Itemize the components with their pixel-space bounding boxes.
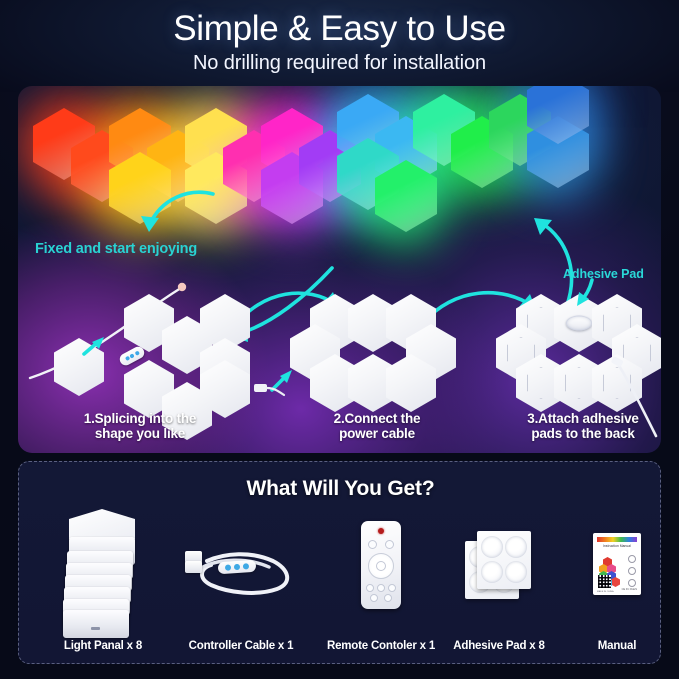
step-2-hex-group	[290, 294, 450, 414]
whats-included-title: What Will You Get?	[19, 477, 662, 501]
page-subtitle: No drilling required for installation	[0, 52, 679, 75]
whats-included-panel: What Will You Get? Light Panal x 8	[18, 461, 661, 664]
manual-qr-code	[598, 575, 611, 588]
manual-footer-text: MADE IN CHINA	[597, 591, 614, 593]
step-1-caption: 1.Splicing into the shape you like	[40, 411, 240, 441]
light-panel-stack-art	[33, 507, 173, 625]
included-item-light-panel: Light Panal x 8	[33, 507, 173, 652]
included-item-manual: Instruction Manual CE FC RoHS MADE IN CH…	[547, 507, 679, 652]
manual-cover-title: Instruction Manual	[593, 544, 641, 548]
step-3-caption: 3.Attach adhesive pads to the back	[483, 411, 661, 441]
arrow-to-lights-icon	[123, 186, 243, 256]
main-illustration-panel: Fixed and start enjoying	[18, 86, 661, 453]
manual-cert-marks: CE FC RoHS	[622, 588, 637, 591]
power-plug-icon	[250, 374, 290, 404]
included-item-controller-cable: Controller Cable x 1	[171, 507, 311, 652]
controller-cable-label: Controller Cable x 1	[171, 640, 311, 652]
infographic-root: Simple & Easy to Use No drilling require…	[0, 0, 679, 679]
adhesive-pad-arrow-icon	[570, 278, 606, 310]
light-panel-label: Light Panal x 8	[33, 640, 173, 652]
step-2-caption: 2.Connect the power cable	[277, 411, 477, 441]
manual-art: Instruction Manual CE FC RoHS MADE IN CH…	[547, 507, 679, 625]
controller-cable-art	[171, 507, 311, 625]
manual-label: Manual	[547, 640, 679, 652]
page-title: Simple & Easy to Use	[0, 9, 679, 49]
manual-rainbow-bar	[597, 537, 637, 542]
header-section: Simple & Easy to Use No drilling require…	[0, 0, 679, 92]
step1-join-arrow-icon	[82, 332, 122, 364]
